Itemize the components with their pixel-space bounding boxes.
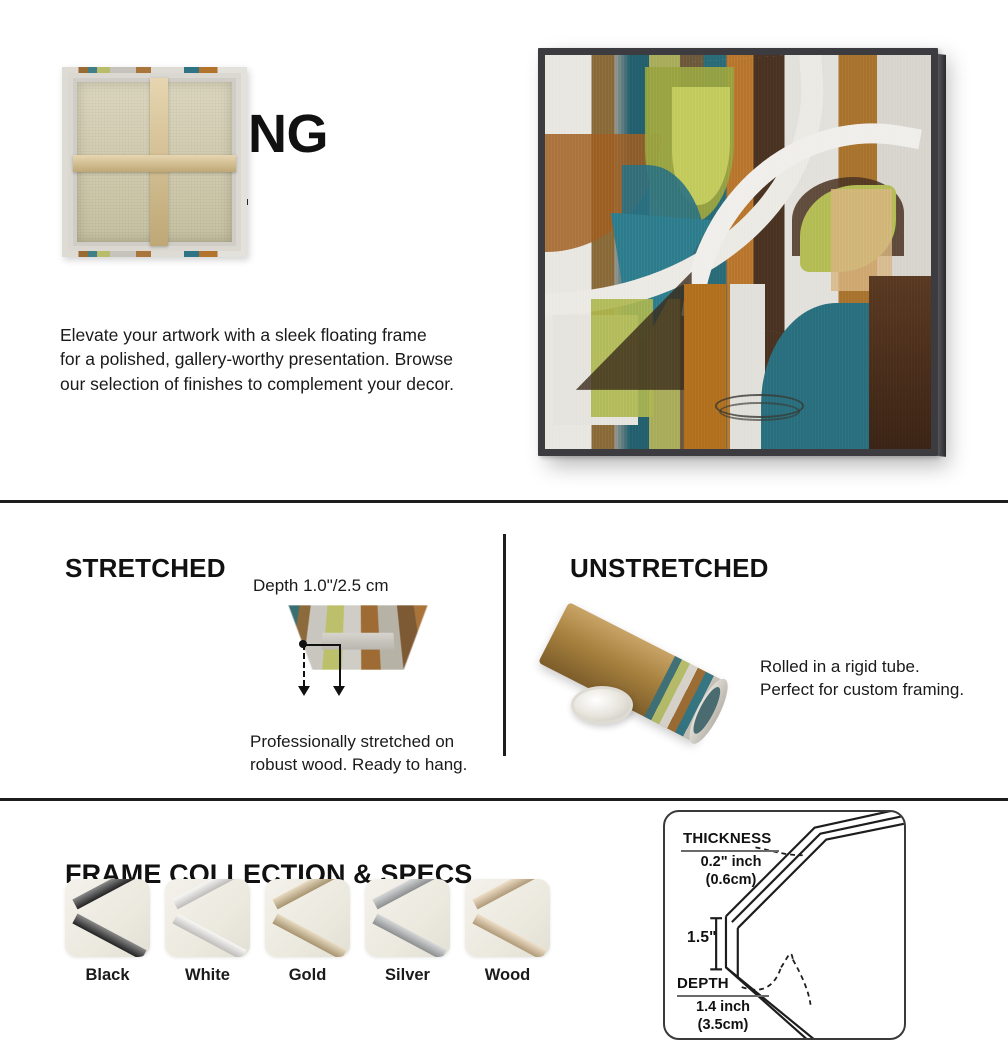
tube-end-cap — [571, 686, 633, 724]
stretched-description: Professionally stretched on robust wood.… — [250, 730, 508, 777]
frame-corner-swatch-image[interactable] — [265, 879, 350, 957]
frame-swatch-white[interactable]: White — [165, 879, 250, 985]
spec-depth-value: 1.4 inch (3.5cm) — [675, 999, 771, 1034]
stretcher-bar-horizontal — [73, 155, 236, 172]
frame-corner-bar-bottom — [472, 914, 546, 957]
depth-measure-dashed — [303, 644, 305, 686]
unstretched-description: Rolled in a rigid tube. Perfect for cust… — [760, 655, 1005, 702]
frame-swatch-row: Black White Gold — [65, 879, 550, 985]
frame-corner-bar-top — [172, 879, 246, 909]
frame-corner-bar-top — [372, 879, 446, 909]
depth-measure-point — [299, 640, 307, 648]
frame-corner-swatch-image[interactable] — [65, 879, 150, 957]
canvas-stretcher-frame — [68, 73, 241, 251]
frame-corner-bar-bottom — [272, 914, 346, 957]
tube-body — [538, 602, 725, 742]
frame-corner-swatch-image[interactable] — [465, 879, 550, 957]
hero-description: Elevate your artwork with a sleek floati… — [60, 323, 530, 398]
frame-swatch-label: Black — [65, 966, 150, 985]
floating-frame-border — [538, 48, 938, 456]
frame-spec-diagram-panel: THICKNESS 0.2" inch (0.6cm) 1.5" DEPTH 1… — [663, 810, 906, 1040]
frame-collection-section: FRAME COLLECTION & SPECS Black White — [0, 801, 1008, 1024]
frame-corner-bar-top — [472, 879, 546, 909]
art-canvas-texture — [545, 55, 931, 449]
column-divider — [503, 534, 506, 756]
frame-swatch-wood[interactable]: Wood — [465, 879, 550, 985]
depth-arrow-left — [298, 686, 310, 696]
artwork-canvas-image — [545, 55, 931, 449]
spec-depth-heading: DEPTH — [677, 975, 729, 992]
frame-swatch-label: Wood — [465, 966, 550, 985]
shipping-tube-illustration — [565, 578, 780, 753]
spec-thickness-underline — [681, 850, 779, 852]
frame-corner-bar-top — [272, 879, 346, 909]
frame-corner-swatch-image[interactable] — [165, 879, 250, 957]
frame-swatch-gold[interactable]: Gold — [265, 879, 350, 985]
depth-measure-bracket — [303, 644, 341, 688]
spec-thickness-heading: THICKNESS — [683, 830, 771, 847]
frame-swatch-label: White — [165, 966, 250, 985]
infographic-page: FLOATING FRAME Elevate your artwork with… — [0, 0, 1008, 1024]
stretched-canvas-photo — [62, 67, 247, 257]
frame-corner-bar-bottom — [72, 914, 146, 957]
depth-arrow-right — [333, 686, 345, 696]
frame-corner-swatch-image[interactable] — [365, 879, 450, 957]
frame-corner-bar-bottom — [372, 914, 446, 957]
frame-swatch-black[interactable]: Black — [65, 879, 150, 985]
frame-swatch-label: Silver — [365, 966, 450, 985]
frame-corner-bar-top — [72, 879, 146, 909]
frame-corner-bar-bottom — [172, 914, 246, 957]
frame-swatch-label: Gold — [265, 966, 350, 985]
spec-depth-underline — [677, 995, 769, 997]
depth-label: Depth 1.0"/2.5 cm — [253, 576, 389, 596]
spec-width-value: 1.5" — [687, 929, 717, 947]
framed-artwork — [538, 48, 938, 456]
spec-thickness-value: 0.2" inch (0.6cm) — [681, 854, 781, 889]
frame-swatch-silver[interactable]: Silver — [365, 879, 450, 985]
stretched-heading: STRETCHED — [65, 553, 226, 584]
